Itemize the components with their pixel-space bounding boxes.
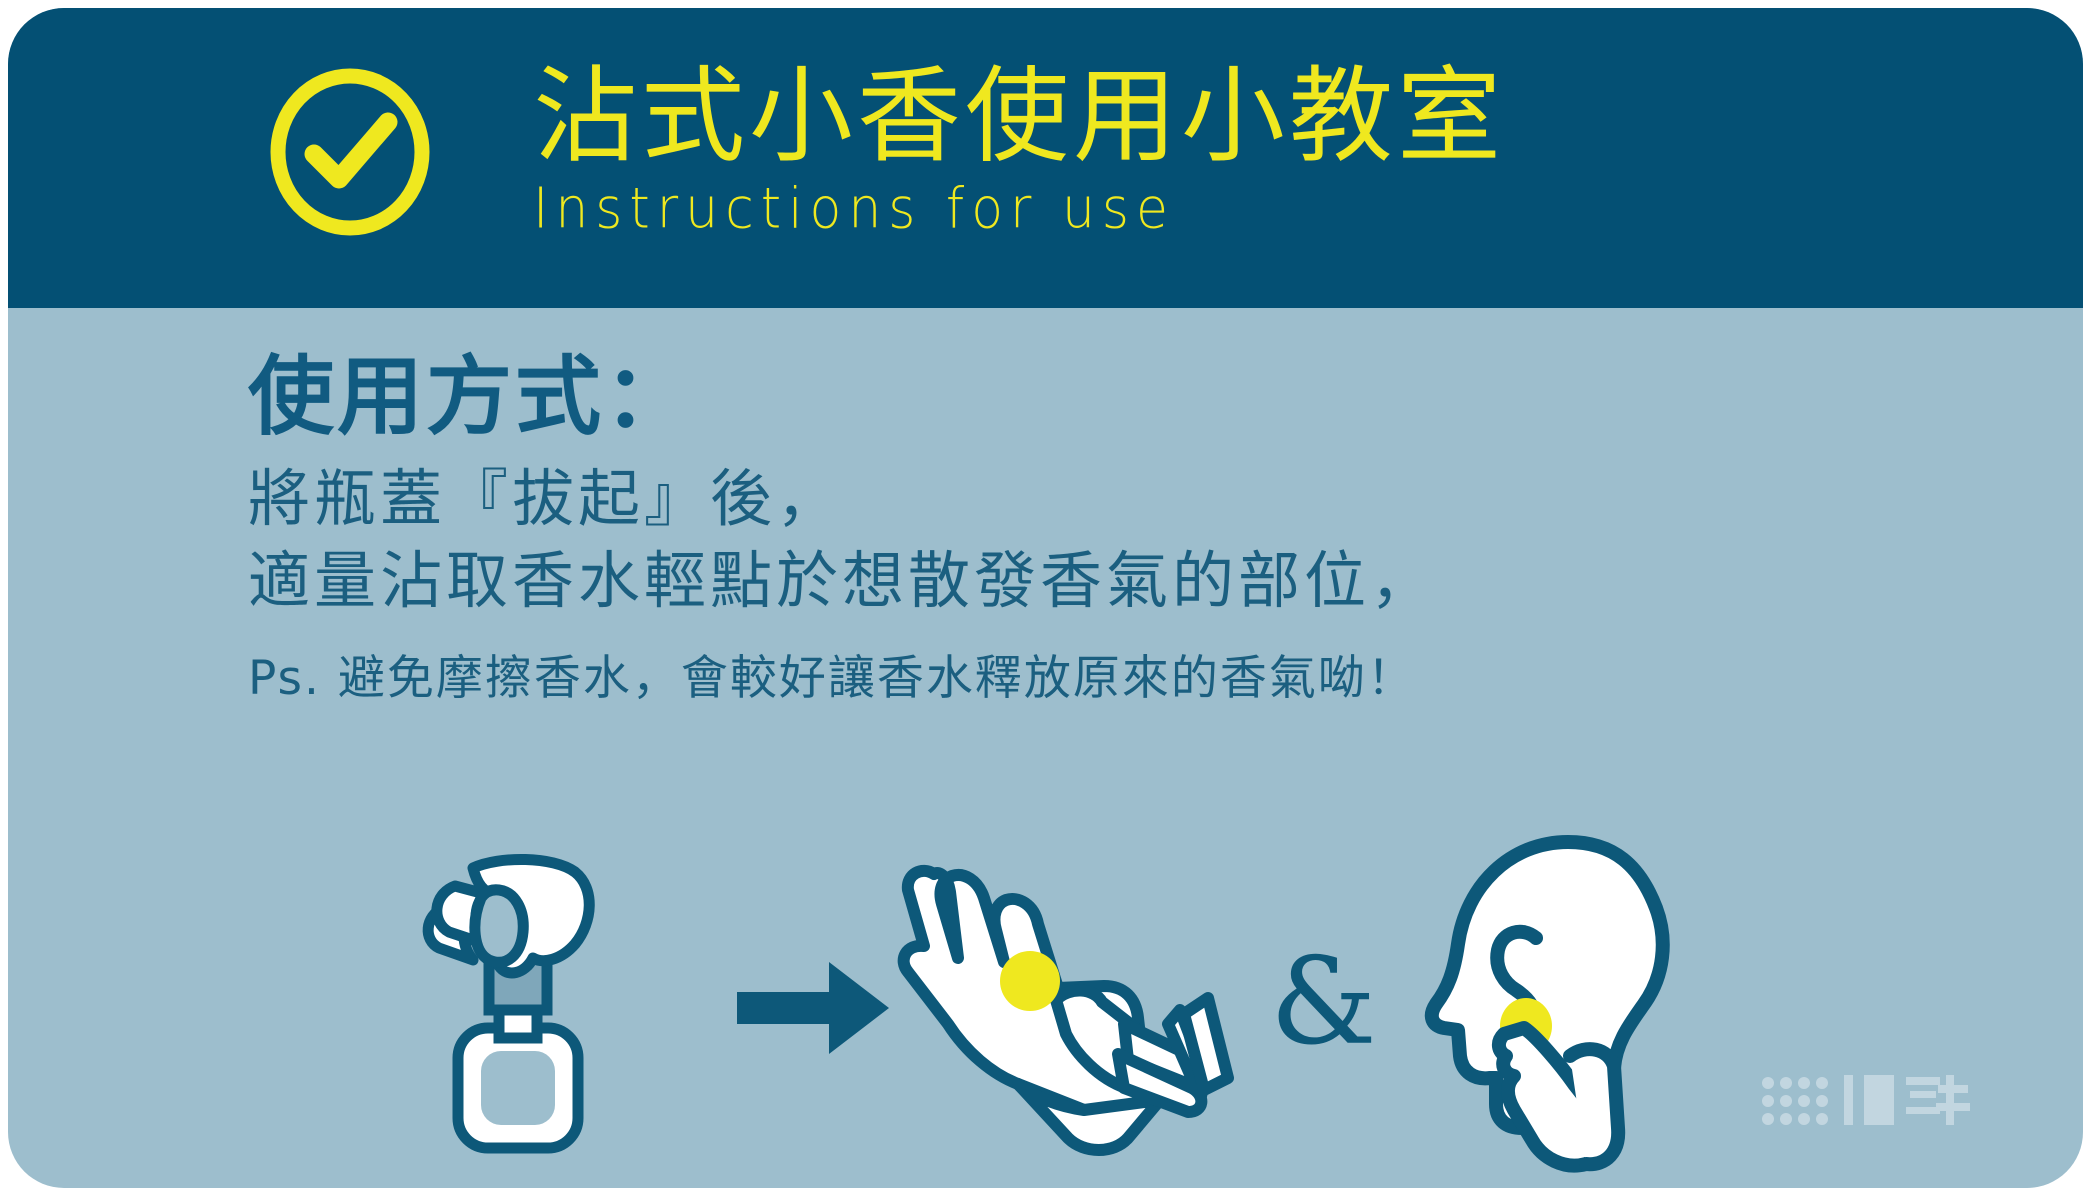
header-text-block: 沾式小香使用小教室 Instructions for use: [533, 58, 1505, 235]
instruction-poster: 沾式小香使用小教室 Instructions for use 使用方式： 將瓶蓋…: [8, 8, 2083, 1188]
check-circle-icon: [266, 66, 434, 238]
finger-dabbing-wrist-icon: [888, 838, 1308, 1158]
page-title: 沾式小香使用小教室: [533, 58, 1505, 174]
hand-pulling-bottle-cap-icon: [403, 848, 733, 1178]
usage-step-1: 將瓶蓋『拔起』後，: [248, 459, 2023, 540]
instructions-body: 使用方式： 將瓶蓋『拔起』後， 適量沾取香水輕點於想散發香氣的部位， Ps. 避…: [248, 348, 2023, 709]
finger-dabbing-behind-ear-icon: [1418, 828, 1748, 1178]
usage-note: Ps. 避免摩擦香水，會較好讓香水釋放原來的香氣呦！: [248, 648, 2023, 709]
ten-dot-brand-logo: [1760, 1063, 1980, 1133]
page-subtitle: Instructions for use: [533, 180, 1505, 239]
ampersand-separator: &: [1270, 943, 1390, 1073]
right-arrow-icon: [733, 948, 893, 1068]
usage-heading: 使用方式：: [248, 348, 2023, 447]
illustration-row: &: [8, 828, 2083, 1188]
poster-header: 沾式小香使用小教室 Instructions for use: [8, 8, 2083, 308]
usage-step-2: 適量沾取香水輕點於想散發香氣的部位，: [248, 541, 2023, 622]
ampersand-glyph: &: [1270, 943, 1390, 1063]
